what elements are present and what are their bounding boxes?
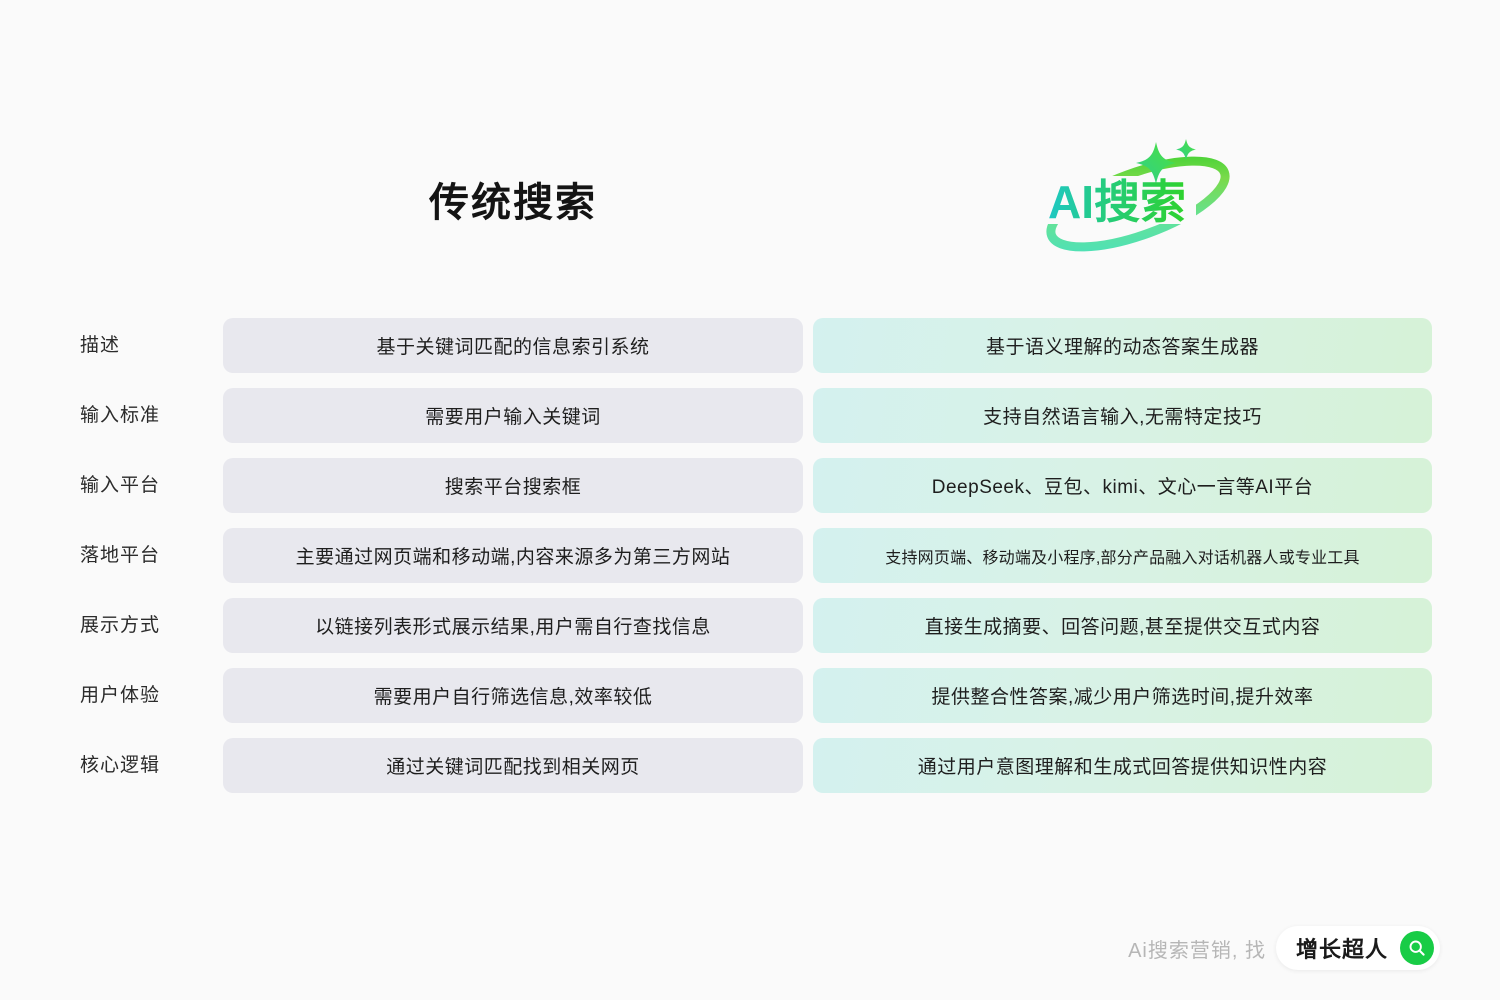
comparison-grid: 描述 基于关键词匹配的信息索引系统 基于语义理解的动态答案生成器 输入标准 需要… <box>0 318 1500 808</box>
row-label-user-experience: 用户体验 <box>80 668 160 723</box>
table-row: 核心逻辑 通过关键词匹配找到相关网页 通过用户意图理解和生成式回答提供知识性内容 <box>0 738 1500 793</box>
comparison-header: 传统搜索 <box>0 0 1500 300</box>
row-label-presentation: 展示方式 <box>80 598 160 653</box>
traditional-cell-description: 基于关键词匹配的信息索引系统 <box>223 318 803 373</box>
traditional-cell-user-experience: 需要用户自行筛选信息,效率较低 <box>223 668 803 723</box>
brand-pill[interactable]: 增长超人 <box>1276 926 1440 970</box>
ai-cell-input-platform: DeepSeek、豆包、kimi、文心一言等AI平台 <box>813 458 1432 513</box>
table-row: 描述 基于关键词匹配的信息索引系统 基于语义理解的动态答案生成器 <box>0 318 1500 373</box>
table-row: 用户体验 需要用户自行筛选信息,效率较低 提供整合性答案,减少用户筛选时间,提升… <box>0 668 1500 723</box>
ai-search-logo-text: AI搜索 <box>1048 176 1186 228</box>
traditional-cell-core-logic: 通过关键词匹配找到相关网页 <box>223 738 803 793</box>
ai-search-logo: AI搜索 <box>1028 128 1248 268</box>
traditional-search-title: 传统搜索 <box>223 170 803 228</box>
table-row: 落地平台 主要通过网页端和移动端,内容来源多为第三方网站 支持网页端、移动端及小… <box>0 528 1500 583</box>
table-row: 输入平台 搜索平台搜索框 DeepSeek、豆包、kimi、文心一言等AI平台 <box>0 458 1500 513</box>
table-row: 展示方式 以链接列表形式展示结果,用户需自行查找信息 直接生成摘要、回答问题,甚… <box>0 598 1500 653</box>
row-label-core-logic: 核心逻辑 <box>80 738 160 793</box>
ai-cell-landing-platform: 支持网页端、移动端及小程序,部分产品融入对话机器人或专业工具 <box>813 528 1432 583</box>
ai-cell-user-experience: 提供整合性答案,减少用户筛选时间,提升效率 <box>813 668 1432 723</box>
brand-name: 增长超人 <box>1296 932 1388 964</box>
table-row: 输入标准 需要用户输入关键词 支持自然语言输入,无需特定技巧 <box>0 388 1500 443</box>
ai-cell-presentation: 直接生成摘要、回答问题,甚至提供交互式内容 <box>813 598 1432 653</box>
row-label-landing-platform: 落地平台 <box>80 528 160 583</box>
row-label-input-standard: 输入标准 <box>80 388 160 443</box>
ai-cell-description: 基于语义理解的动态答案生成器 <box>813 318 1432 373</box>
traditional-cell-input-standard: 需要用户输入关键词 <box>223 388 803 443</box>
footer-branding: Ai搜索营销, 找 增长超人 <box>1128 926 1440 970</box>
footer-tagline: Ai搜索营销, 找 <box>1128 934 1266 963</box>
search-icon[interactable] <box>1400 931 1434 965</box>
traditional-cell-landing-platform: 主要通过网页端和移动端,内容来源多为第三方网站 <box>223 528 803 583</box>
traditional-cell-presentation: 以链接列表形式展示结果,用户需自行查找信息 <box>223 598 803 653</box>
ai-cell-core-logic: 通过用户意图理解和生成式回答提供知识性内容 <box>813 738 1432 793</box>
traditional-cell-input-platform: 搜索平台搜索框 <box>223 458 803 513</box>
ai-cell-input-standard: 支持自然语言输入,无需特定技巧 <box>813 388 1432 443</box>
row-label-description: 描述 <box>80 318 120 373</box>
row-label-input-platform: 输入平台 <box>80 458 160 513</box>
